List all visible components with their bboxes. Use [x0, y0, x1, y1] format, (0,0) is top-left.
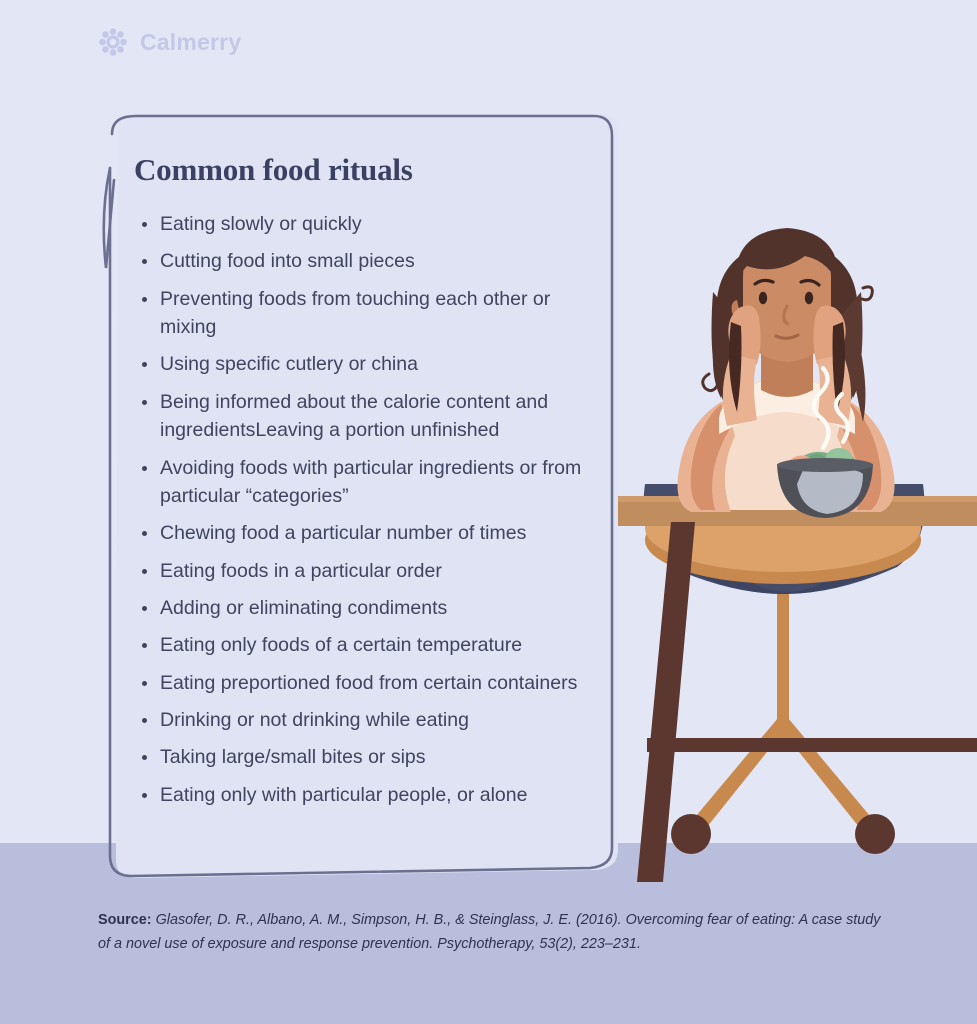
list-item: Eating only with particular people, or a…: [134, 781, 604, 809]
source-citation: Source: Glasofer, D. R., Albano, A. M., …: [98, 908, 888, 956]
list-item: Preventing foods from touching each othe…: [134, 285, 604, 342]
list-item: Avoiding foods with particular ingredien…: [134, 454, 604, 511]
source-text: Glasofer, D. R., Albano, A. M., Simpson,…: [98, 912, 881, 952]
list-item: Adding or eliminating condiments: [134, 594, 604, 622]
list-item: Eating preportioned food from certain co…: [134, 669, 604, 697]
sunburst-flower-icon: [98, 27, 128, 57]
brand-logo: Calmerry: [98, 27, 241, 57]
page-title: Common food rituals: [134, 152, 604, 188]
illustration-svg: [591, 222, 977, 882]
food-rituals-card: Common food rituals Eating slowly or qui…: [84, 108, 630, 890]
infographic-page: Calmerry: [0, 0, 977, 1024]
list-item: Cutting food into small pieces: [134, 247, 604, 275]
list-item: Being informed about the calorie content…: [134, 388, 604, 445]
list-item: Eating only foods of a certain temperatu…: [134, 631, 604, 659]
list-item: Taking large/small bites or sips: [134, 743, 604, 771]
list-item: Eating slowly or quickly: [134, 210, 604, 238]
brand-name: Calmerry: [140, 29, 241, 56]
illustration-woman-at-table: [591, 222, 977, 882]
list-item: Chewing food a particular number of time…: [134, 519, 604, 547]
list-item: Drinking or not drinking while eating: [134, 706, 604, 734]
list-item: Eating foods in a particular order: [134, 557, 604, 585]
card-content: Common food rituals Eating slowly or qui…: [84, 108, 630, 890]
source-label: Source:: [98, 912, 156, 928]
list-item: Using specific cutlery or china: [134, 350, 604, 378]
food-rituals-list: Eating slowly or quickly Cutting food in…: [134, 210, 604, 809]
